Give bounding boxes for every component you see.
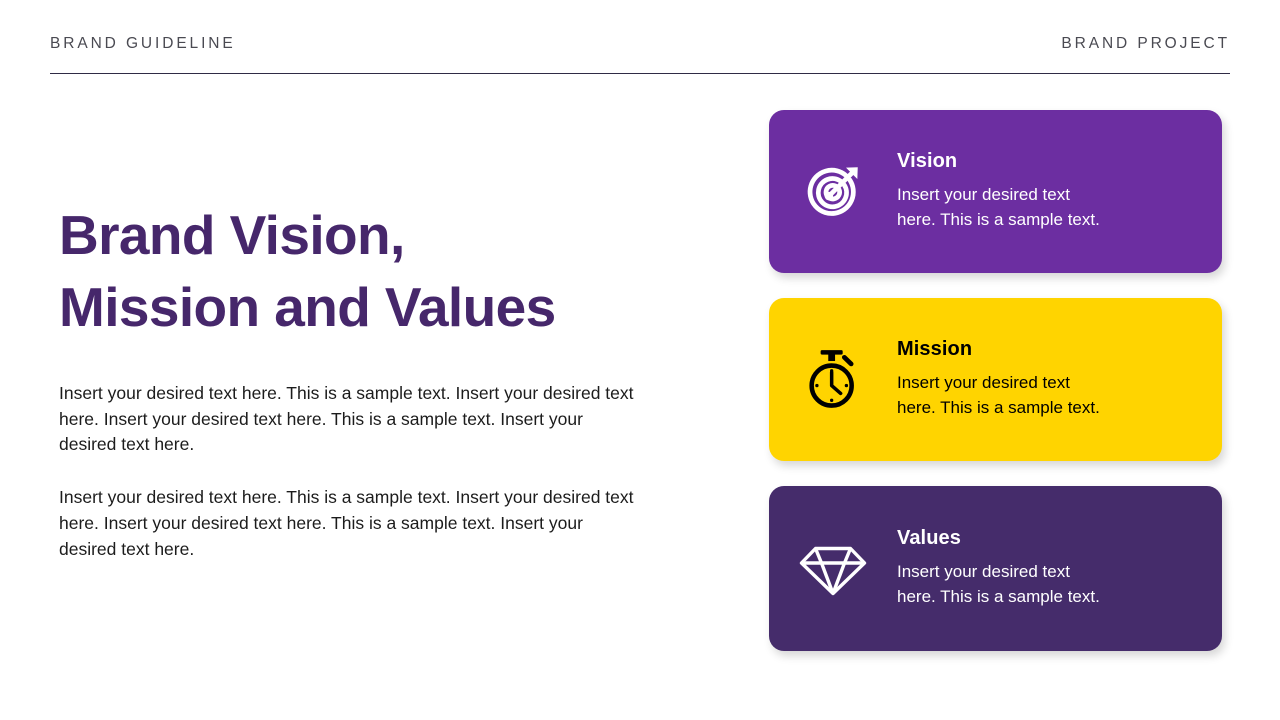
card-values-body: Values Insert your desired text here. Th… bbox=[897, 528, 1122, 609]
page-title: Brand Vision, Mission and Values bbox=[59, 200, 659, 343]
stopwatch-icon bbox=[769, 347, 897, 413]
card-vision-text: Insert your desired text here. This is a… bbox=[897, 182, 1100, 232]
slide-header: BRAND GUIDELINE BRAND PROJECT bbox=[50, 36, 1230, 74]
body-paragraph-1: Insert your desired text here. This is a… bbox=[59, 381, 634, 458]
card-mission-text: Insert your desired text here. This is a… bbox=[897, 370, 1100, 420]
target-icon bbox=[769, 159, 897, 225]
body-paragraph-2: Insert your desired text here. This is a… bbox=[59, 485, 634, 562]
cards-column: Vision Insert your desired text here. Th… bbox=[769, 110, 1222, 651]
body-text-block: Insert your desired text here. This is a… bbox=[59, 381, 634, 562]
card-mission-body: Mission Insert your desired text here. T… bbox=[897, 339, 1122, 420]
card-vision-body: Vision Insert your desired text here. Th… bbox=[897, 151, 1122, 232]
card-vision[interactable]: Vision Insert your desired text here. Th… bbox=[769, 110, 1222, 273]
card-values-text: Insert your desired text here. This is a… bbox=[897, 559, 1100, 609]
header-left-label: BRAND GUIDELINE bbox=[50, 36, 236, 62]
diamond-icon bbox=[769, 539, 897, 599]
card-mission[interactable]: Mission Insert your desired text here. T… bbox=[769, 298, 1222, 461]
card-values-heading: Values bbox=[897, 528, 1100, 548]
card-mission-heading: Mission bbox=[897, 339, 1100, 359]
title-block: Brand Vision, Mission and Values bbox=[59, 200, 659, 343]
header-right-label: BRAND PROJECT bbox=[1061, 36, 1230, 62]
card-values[interactable]: Values Insert your desired text here. Th… bbox=[769, 486, 1222, 651]
card-vision-heading: Vision bbox=[897, 151, 1100, 171]
